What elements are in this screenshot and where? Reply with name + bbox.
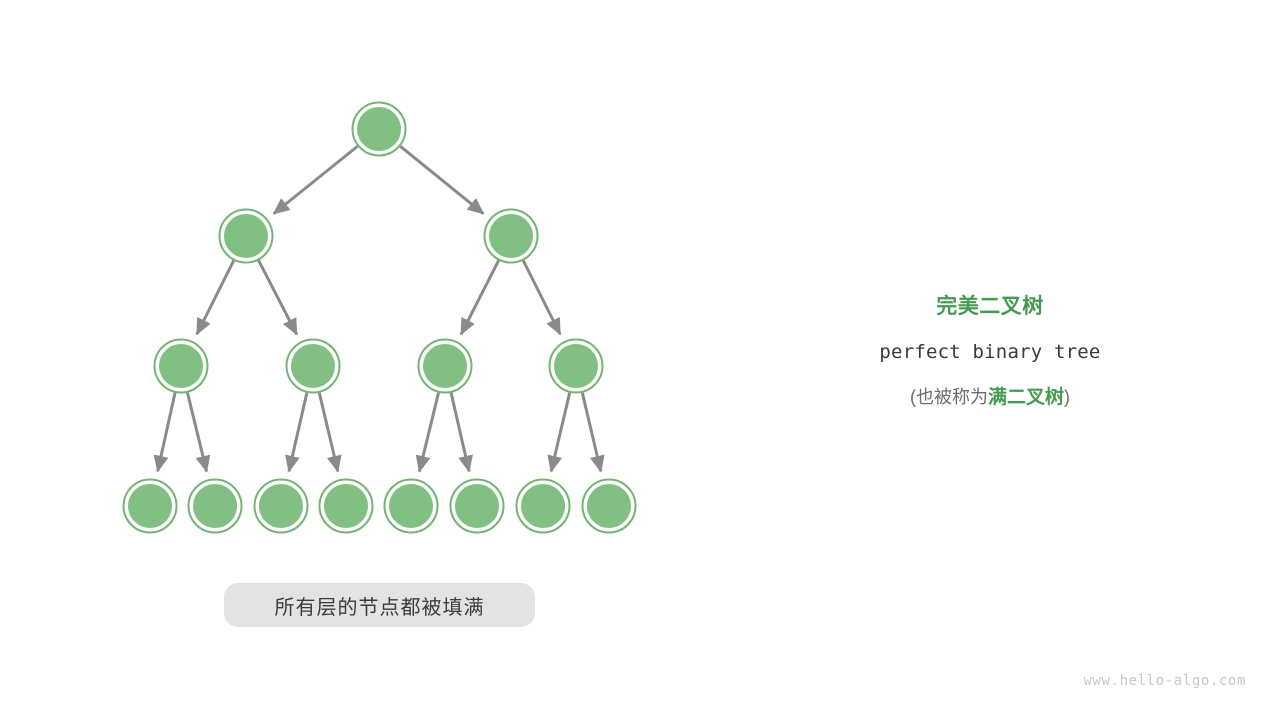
tree-node[interactable] [320, 480, 373, 533]
tree-edge [400, 146, 483, 213]
legend-title-en: perfect binary tree [790, 337, 1190, 367]
node-fill [193, 484, 237, 528]
node-fill [389, 484, 433, 528]
caption-badge: 所有层的节点都被填满 [224, 583, 535, 627]
node-fill [455, 484, 499, 528]
tree-node[interactable] [385, 480, 438, 533]
tree-node[interactable] [517, 480, 570, 533]
alias-highlight: 满二叉树 [988, 387, 1064, 408]
tree-node[interactable] [419, 340, 472, 393]
tree-edge [461, 261, 498, 335]
node-fill [521, 484, 565, 528]
tree-edge [187, 393, 206, 472]
tree-edge [197, 261, 234, 335]
tree-node[interactable] [287, 340, 340, 393]
node-fill [489, 214, 533, 258]
tree-node[interactable] [583, 480, 636, 533]
tree-node[interactable] [485, 210, 538, 263]
node-fill [554, 344, 598, 388]
tree-edge [451, 393, 469, 472]
tree-node[interactable] [255, 480, 308, 533]
tree-edge [419, 393, 438, 472]
node-fill [423, 344, 467, 388]
alias-prefix: (也被称为 [910, 387, 988, 407]
node-fill [128, 484, 172, 528]
node-fill [357, 107, 401, 151]
node-fill [324, 484, 368, 528]
tree-node-layer [124, 103, 636, 533]
watermark: www.hello-algo.com [0, 673, 1246, 689]
tree-node[interactable] [189, 480, 242, 533]
tree-edge [551, 393, 570, 472]
tree-node[interactable] [124, 480, 177, 533]
legend-alias-note: (也被称为满二叉树) [790, 383, 1190, 412]
tree-edge [274, 146, 358, 214]
tree-node[interactable] [353, 103, 406, 156]
tree-edge [582, 393, 601, 472]
alias-suffix: ) [1064, 387, 1070, 407]
caption-text: 所有层的节点都被填满 [275, 591, 485, 620]
node-fill [259, 484, 303, 528]
legend-title-zh: 完美二叉树 [790, 292, 1190, 322]
node-fill [587, 484, 631, 528]
tree-node[interactable] [155, 340, 208, 393]
tree-node[interactable] [451, 480, 504, 533]
node-fill [291, 344, 335, 388]
tree-edge [158, 393, 175, 471]
tree-edge [259, 260, 297, 334]
tree-node[interactable] [550, 340, 603, 393]
node-fill [159, 344, 203, 388]
tree-node[interactable] [220, 210, 273, 263]
node-fill [224, 214, 268, 258]
tree-edge [289, 393, 307, 472]
tree-edge [319, 393, 338, 472]
tree-edge [523, 261, 560, 335]
tree-edge-layer [158, 146, 601, 471]
diagram-canvas: 完美二叉树 perfect binary tree (也被称为满二叉树) 所有层… [0, 0, 1280, 720]
legend-block: 完美二叉树 perfect binary tree (也被称为满二叉树) [790, 292, 1190, 412]
